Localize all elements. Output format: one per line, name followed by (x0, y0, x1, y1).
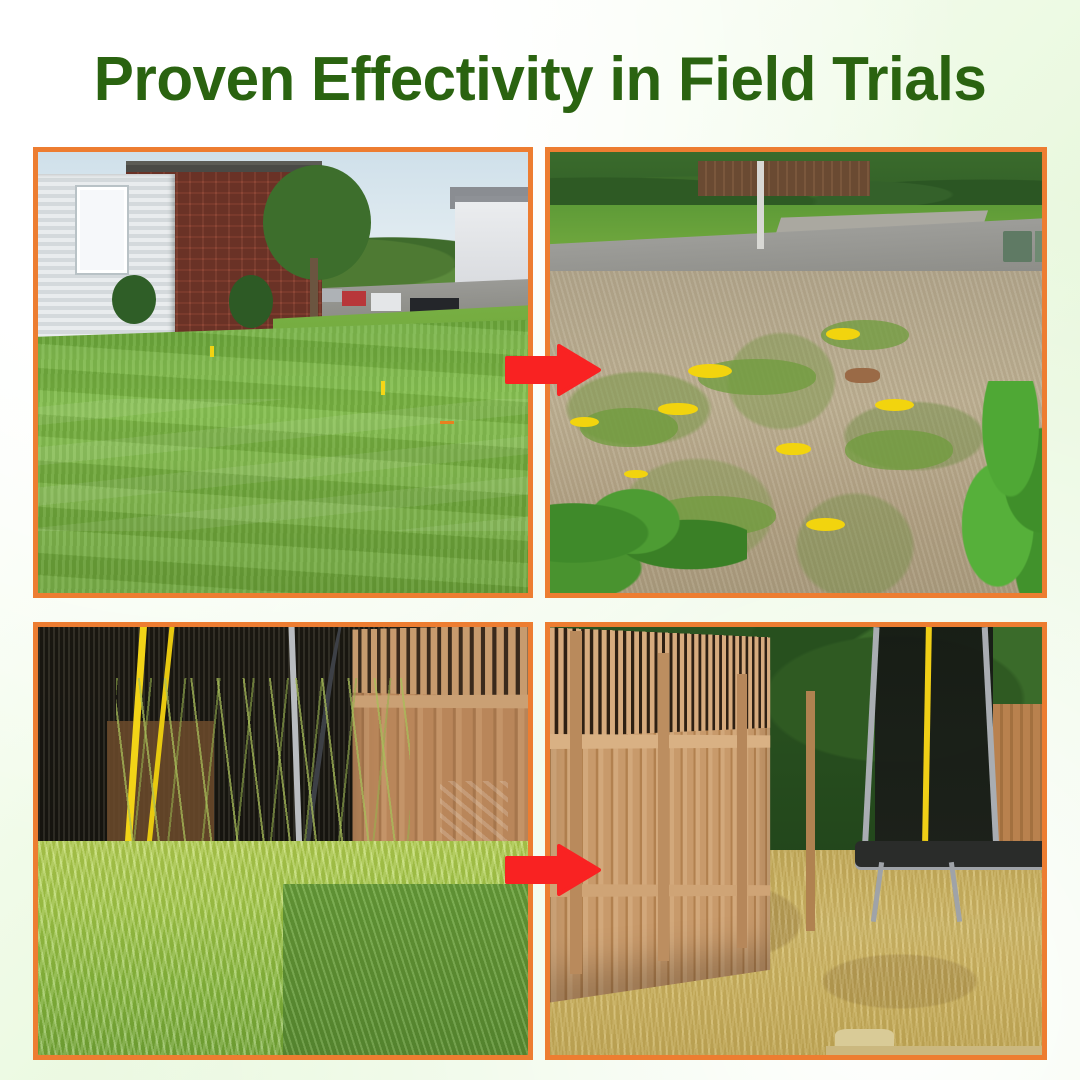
photo-panel-after-front-lawn[interactable] (545, 147, 1047, 598)
yellow-marker-flag (381, 381, 385, 394)
utility-pole (757, 161, 764, 249)
scene-before-back-yard (38, 627, 528, 1055)
scene-after-back-yard (550, 627, 1042, 1055)
yard-edging (826, 1046, 1042, 1055)
utility-box (1035, 231, 1042, 262)
parked-car (322, 289, 342, 302)
house-window (77, 187, 127, 272)
foreground-shrub (953, 381, 1042, 593)
overgrown-grass-shadow (283, 884, 528, 1055)
background-fence (698, 161, 870, 196)
foreground-shrub (550, 487, 747, 593)
scene-after-front-lawn (550, 152, 1042, 593)
photo-panel-before-back-yard[interactable] (33, 622, 533, 1060)
photo-panel-after-back-yard[interactable] (545, 622, 1047, 1060)
yellow-weed-flower (776, 443, 810, 454)
yellow-weed-flower (688, 364, 732, 378)
trampoline-netting (875, 627, 993, 858)
weed-patch (845, 430, 953, 470)
foundation-shrub (112, 275, 156, 324)
photo-panel-before-front-lawn[interactable] (33, 147, 533, 598)
parked-car (371, 293, 400, 311)
photo-grid (33, 147, 1047, 1060)
parked-car (342, 291, 367, 306)
bare-soil-patch (845, 368, 879, 383)
orange-marker-flag (440, 421, 455, 424)
fence-post (737, 674, 747, 948)
yellow-marker-flag (210, 346, 214, 357)
yellow-weed-flower (826, 328, 860, 339)
page-title: Proven Effectivity in Field Trials (94, 49, 987, 111)
mow-stripes (38, 399, 528, 531)
poster-root: Proven Effectivity in Field Trials (0, 0, 1080, 1080)
yellow-weed-flower (658, 403, 697, 414)
utility-box (1003, 231, 1033, 262)
scene-before-front-lawn (38, 152, 528, 593)
yellow-weed-flower (570, 417, 600, 428)
weed-patch (580, 408, 678, 448)
fence-post (658, 653, 669, 961)
fence-post (806, 691, 815, 931)
fence-post (570, 631, 583, 973)
title-container: Proven Effectivity in Field Trials (0, 34, 1080, 126)
